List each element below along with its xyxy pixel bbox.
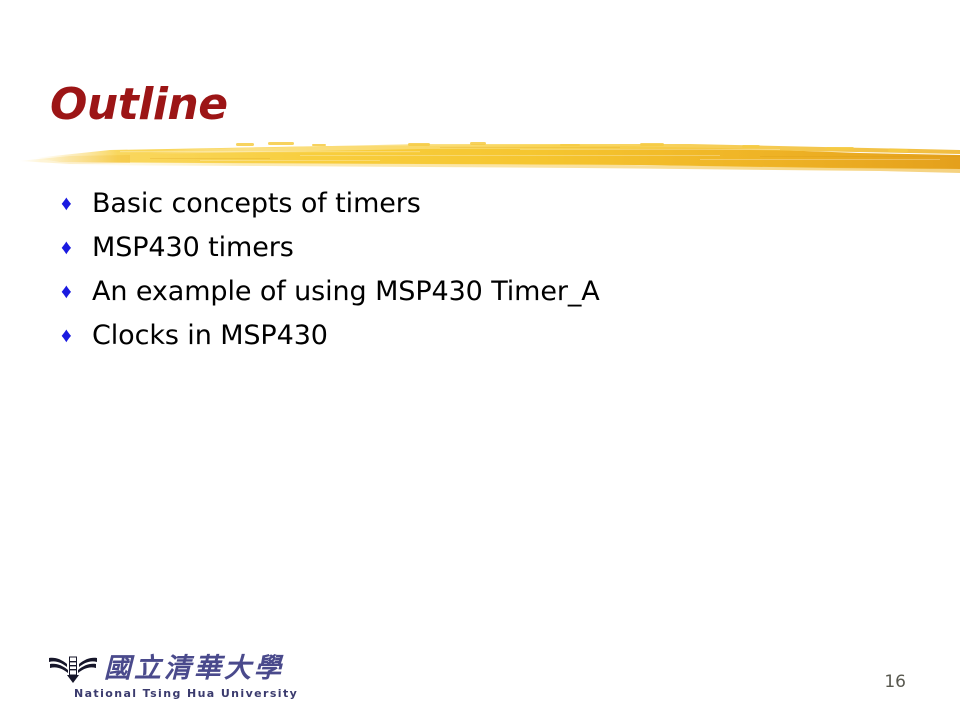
diamond-bullet-icon: ♦	[58, 226, 92, 270]
diamond-bullet-icon: ♦	[58, 182, 92, 226]
slide-canvas: Outline	[0, 0, 960, 720]
outline-bullet-list: ♦ Basic concepts of timers ♦ MSP430 time…	[58, 182, 918, 358]
university-emblem-icon	[48, 654, 98, 684]
logo-chinese-name: 國立清華大學	[104, 654, 284, 684]
list-item-label: An example of using MSP430 Timer_A	[92, 270, 600, 314]
list-item-label: Basic concepts of timers	[92, 182, 421, 226]
brush-stroke-divider	[0, 138, 960, 176]
page-number: 16	[884, 672, 906, 692]
brush-stroke-graphic	[0, 138, 960, 176]
university-logo: 國立清華大學 National Tsing Hua University	[48, 652, 318, 708]
diamond-bullet-icon: ♦	[58, 314, 92, 358]
list-item: ♦ Clocks in MSP430	[58, 314, 918, 358]
list-item-label: MSP430 timers	[92, 226, 294, 270]
list-item: ♦ An example of using MSP430 Timer_A	[58, 270, 918, 314]
logo-top-row: 國立清華大學	[48, 652, 318, 686]
list-item-label: Clocks in MSP430	[92, 314, 328, 358]
list-item: ♦ Basic concepts of timers	[58, 182, 918, 226]
logo-english-name: National Tsing Hua University	[74, 687, 318, 700]
page-title: Outline	[50, 82, 228, 128]
diamond-bullet-icon: ♦	[58, 270, 92, 314]
list-item: ♦ MSP430 timers	[58, 226, 918, 270]
